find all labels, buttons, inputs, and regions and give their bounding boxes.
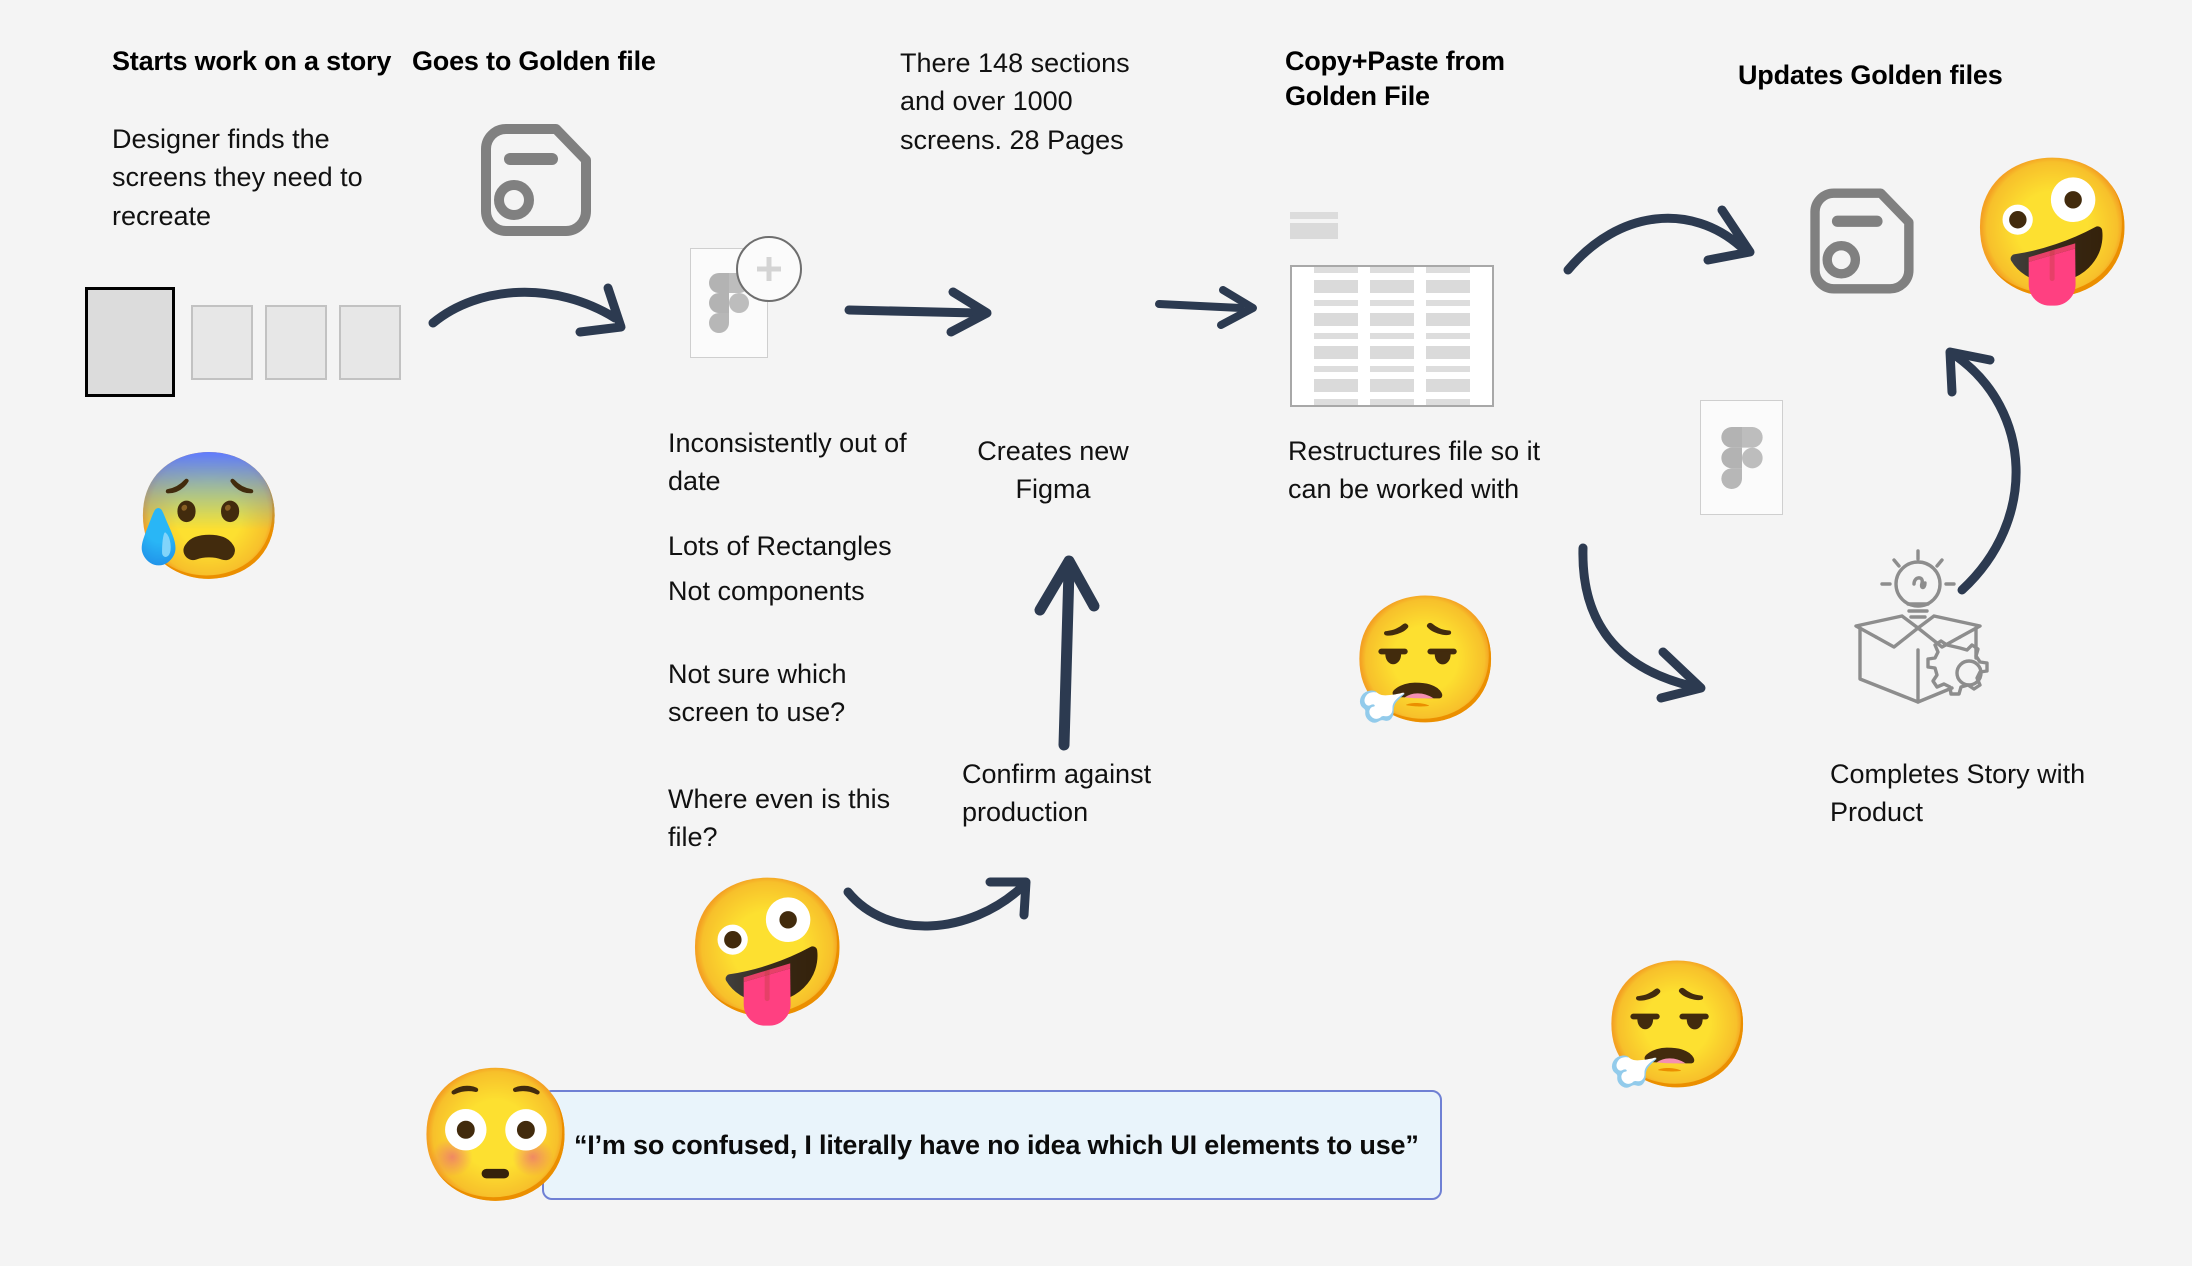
emoji-face-exhaling-bottom: 😮‍💨	[1600, 965, 1754, 1089]
note-inconsistently-out-of-date: Inconsistently out of date	[668, 424, 938, 501]
arrow-up-confirm-to-creates	[1020, 540, 1110, 750]
screen-thumbnail[interactable]	[265, 305, 327, 380]
golden-file-icon[interactable]	[1800, 180, 1922, 302]
note-creates-new-figma: Creates new Figma	[958, 432, 1148, 509]
heading-starts-work: Starts work on a story	[112, 44, 412, 79]
figma-logo-icon	[1720, 426, 1764, 490]
arrow-straight-figma-to-creates	[845, 280, 1005, 340]
note-not-sure-which-screen: Not sure which screen to use?	[668, 655, 918, 732]
note-confirm-against-production: Confirm against production	[962, 755, 1182, 832]
note-where-even-is-this-file: Where even is this file?	[668, 780, 918, 857]
note-there-148-sections: There 148 sections and over 1000 screens…	[900, 44, 1180, 159]
arrow-straight-to-table-doc	[1155, 278, 1275, 338]
screens-row	[85, 287, 401, 397]
arrow-curved-to-confirm	[840, 855, 1060, 965]
note-designer-finds-screens: Designer finds the screens they need to …	[112, 120, 392, 235]
box-lightbulb-gear-icon[interactable]	[1830, 540, 2006, 716]
arrow-curved-to-product-box	[1575, 540, 1755, 700]
figma-file-icon[interactable]	[1700, 400, 1783, 515]
heading-goes-to-golden-file: Goes to Golden file	[412, 44, 692, 79]
screen-thumbnail[interactable]	[339, 305, 401, 380]
emoji-anxious-face-with-sweat: 😰	[132, 455, 286, 579]
screen-thumbnail-selected[interactable]	[85, 287, 175, 397]
note-completes-story-with-product: Completes Story with Product	[1830, 755, 2090, 832]
arrow-curved-screens-to-figma	[425, 265, 665, 375]
screen-thumbnail[interactable]	[191, 305, 253, 380]
quote-callout: “I’m so confused, I literally have no id…	[542, 1090, 1442, 1200]
emoji-zany-face-middle: 🤪	[683, 880, 852, 1016]
golden-file-icon[interactable]	[470, 115, 600, 245]
plus-icon[interactable]	[736, 236, 802, 302]
heading-copy-paste: Copy+Paste from Golden File	[1285, 44, 1515, 113]
quote-text: “I’m so confused, I literally have no id…	[574, 1130, 1419, 1161]
journey-map-canvas: Starts work on a story Goes to Golden fi…	[0, 0, 2192, 1266]
emoji-zany-face-right: 🤪	[1968, 160, 2137, 296]
note-restructures-file: Restructures file so it can be worked wi…	[1288, 432, 1548, 509]
doc-header-stub	[1290, 212, 1338, 239]
figma-new-file-card[interactable]	[690, 248, 768, 358]
table-document-icon[interactable]	[1290, 265, 1494, 407]
heading-updates-golden-files: Updates Golden files	[1738, 58, 2038, 93]
emoji-flushed-face-quote: 😳	[415, 1070, 577, 1200]
emoji-face-exhaling-top: 😮‍💨	[1348, 600, 1502, 724]
arrow-curved-to-golden-file	[1560, 190, 1790, 300]
note-not-components: Not components	[668, 572, 958, 610]
note-lots-of-rectangles: Lots of Rectangles	[668, 527, 958, 565]
